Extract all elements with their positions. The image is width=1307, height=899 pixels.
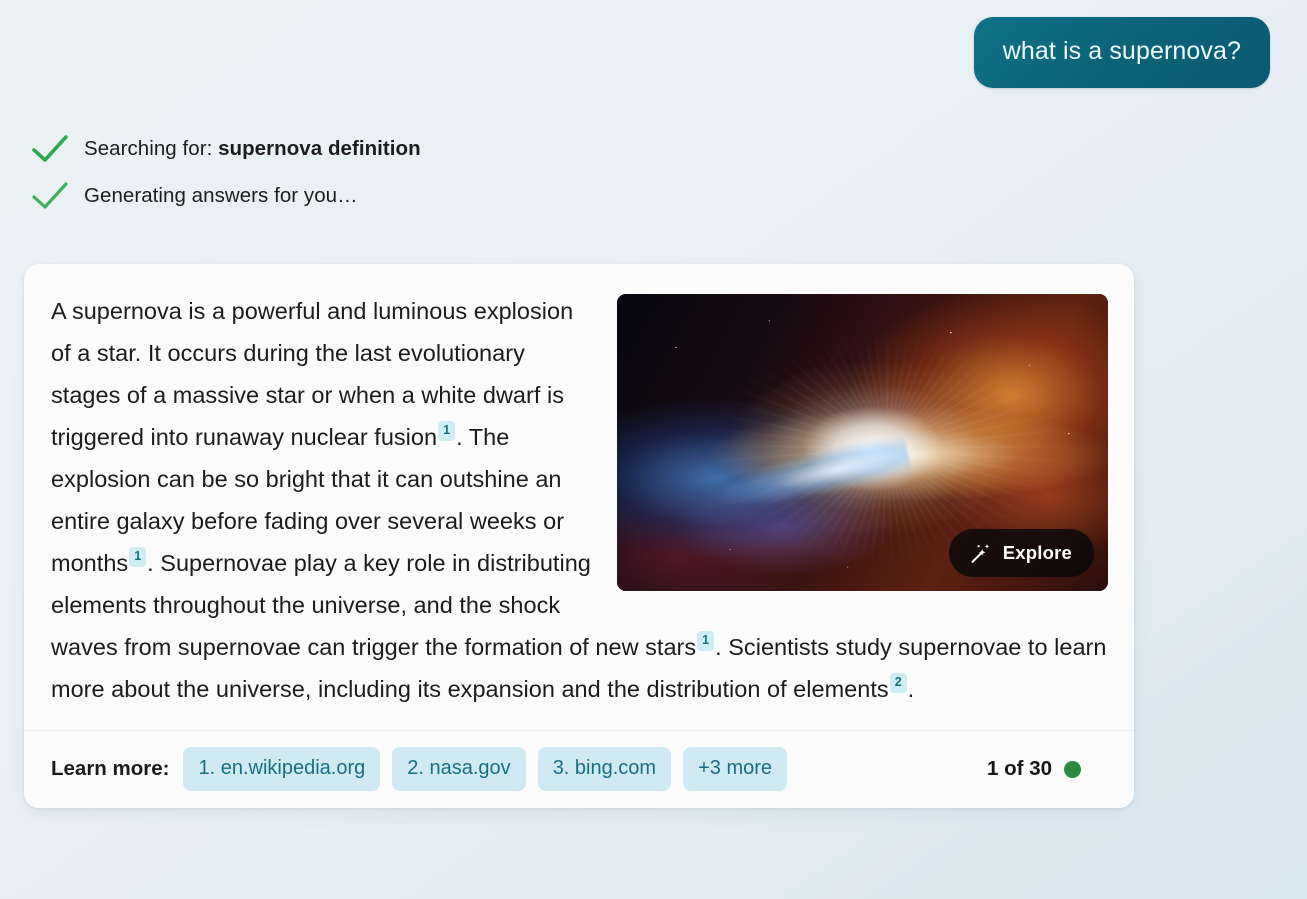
source-chip-wikipedia[interactable]: 1. en.wikipedia.org [183,747,380,791]
check-icon [30,132,70,166]
answer-card-body: Explore A supernova is a powerful and lu… [24,264,1134,730]
source-chip-bing[interactable]: 3. bing.com [538,747,671,791]
status-text-generating: Generating answers for you… [84,184,358,208]
answer-card: Explore A supernova is a powerful and lu… [24,264,1134,808]
status-query-term: supernova definition [218,137,421,160]
explore-button[interactable]: Explore [949,529,1094,577]
citation-badge-2[interactable]: 1 [129,547,146,567]
status-dot-icon [1064,761,1081,778]
user-query-row: what is a supernova? [0,0,1307,88]
citation-badge-3[interactable]: 1 [697,631,714,651]
supernova-image[interactable]: Explore [617,294,1108,591]
answer-card-footer: Learn more: 1. en.wikipedia.org 2. nasa.… [24,730,1134,808]
answer-sentence-3: . Supernovae play a key role in distribu… [51,550,696,660]
status-list: Searching for: supernova definition Gene… [30,125,1307,219]
answer-sentence-5: . [908,676,915,702]
status-item-generating: Generating answers for you… [30,172,1307,219]
progress-indicator: 1 of 30 [987,757,1081,781]
explore-button-label: Explore [1003,542,1072,564]
progress-count: 1 of 30 [987,757,1052,781]
status-item-searching: Searching for: supernova definition [30,125,1307,172]
status-prefix-searching: Searching for: [84,137,218,160]
user-query-bubble: what is a supernova? [974,17,1270,88]
citation-badge-4[interactable]: 2 [890,673,907,693]
citation-badge-1[interactable]: 1 [438,421,455,441]
check-icon [30,179,70,213]
source-chip-more[interactable]: +3 more [683,747,787,791]
magic-wand-icon [968,541,992,565]
learn-more-label: Learn more: [51,757,169,781]
status-text-searching: Searching for: supernova definition [84,137,421,161]
source-chip-nasa[interactable]: 2. nasa.gov [392,747,525,791]
